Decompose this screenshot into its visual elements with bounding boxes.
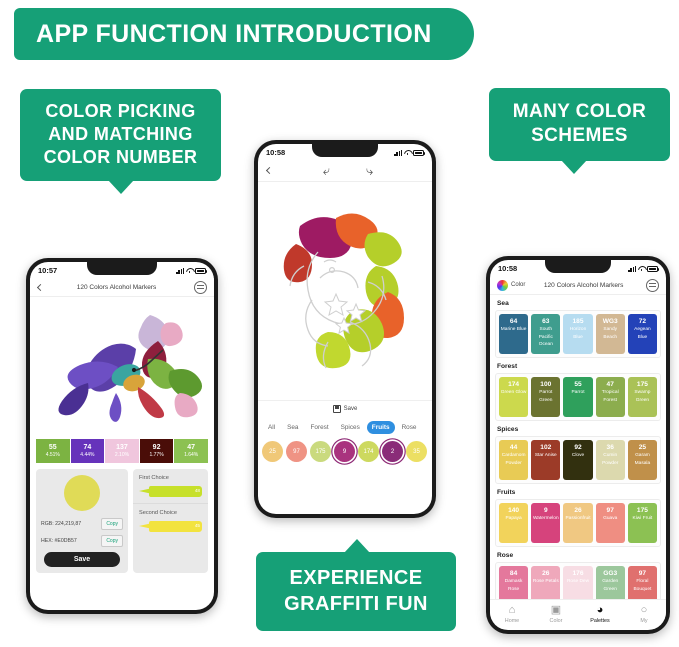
scheme-group: Spices44Cardamom Powder102Star Anise92Cl… [495, 426, 661, 484]
scheme-group: Fruits140Papaya9Watermelon26Passionfruit… [495, 489, 661, 547]
tab-sea[interactable]: Sea [282, 421, 303, 434]
nav-item-palettes[interactable]: ◕Palettes [578, 600, 622, 629]
hummingbird-flower-artwork [30, 297, 214, 439]
chip-number: 185 [573, 317, 584, 326]
phone-mockup-palettes: 10:58 Color 120 Colors Alcohol Markers S… [486, 256, 670, 634]
tab-forest[interactable]: Forest [305, 421, 333, 434]
undo-redo-group: ⤶ ⤷ [272, 164, 424, 177]
color-dots-row: 25971759174235 [258, 438, 432, 468]
app-bar: Color 120 Colors Alcohol Markers [490, 276, 666, 295]
tab-all[interactable]: All [263, 421, 280, 434]
color-wheel-icon [497, 280, 508, 291]
chip-name: Papaya [504, 515, 522, 523]
callout-right-text: MANY COLOR SCHEMES [513, 101, 646, 146]
color-chip[interactable]: 92Clove [563, 440, 592, 480]
page-title: APP FUNCTION INTRODUCTION [14, 8, 474, 60]
color-chip[interactable]: 97Floral Bouquet [628, 566, 657, 599]
color-dot[interactable]: 9 [334, 441, 355, 462]
chip-name: Horizon Blue [563, 326, 592, 341]
home-icon: ⌂ [509, 605, 516, 616]
color-chip[interactable]: WG3Sandy Beach [596, 314, 625, 354]
wifi-icon [404, 150, 411, 156]
nav-item-home[interactable]: ⌂Home [490, 600, 534, 629]
chip-name: Aegean Blue [628, 326, 657, 341]
chip-name: South Pacific Ocean [531, 326, 560, 349]
color-swatch[interactable]: 921.77% [140, 439, 174, 463]
status-icons [176, 268, 206, 274]
chip-number: GG3 [603, 569, 617, 578]
chip-name: Tropical Forest [596, 389, 625, 404]
chip-number: 175 [637, 506, 648, 515]
battery-icon [413, 150, 424, 156]
photo-preview [30, 297, 214, 439]
chip-name: Parrot [570, 389, 585, 397]
color-chip[interactable]: 97Guava [596, 503, 625, 543]
nav-item-my[interactable]: ○My [622, 600, 666, 629]
color-chip[interactable]: 26Rose Petals [531, 566, 560, 599]
nav-item-label: Home [505, 618, 519, 624]
callout-tail-icon [561, 160, 587, 174]
palette-icon: ◕ [597, 605, 604, 616]
nav-item-label: Palettes [590, 618, 609, 624]
chip-number: 63 [542, 317, 549, 326]
chip-number: 97 [639, 569, 646, 578]
marker-choice[interactable]: First Choice48 [133, 469, 208, 503]
scheme-group-title: Spices [497, 426, 661, 433]
status-time: 10:57 [38, 266, 57, 275]
color-dot[interactable]: 174 [358, 441, 379, 462]
scheme-card[interactable]: 44Cardamom Powder102Star Anise92Clove36C… [495, 436, 661, 484]
marker-code: 45 [195, 523, 200, 528]
scheme-card[interactable]: 174Green Glow100Parrot Green55Parrot47Tr… [495, 373, 661, 421]
callout-many-color-schemes: MANY COLOR SCHEMES [489, 88, 670, 161]
color-swatch[interactable]: 744.44% [71, 439, 105, 463]
callout-tail-icon [344, 539, 370, 553]
chip-number: 9 [544, 506, 548, 515]
rgb-row: RGB: 224,219,87 Copy [41, 518, 123, 530]
wifi-icon [638, 266, 645, 272]
redo-arrow-icon[interactable]: ⤷ [366, 164, 373, 177]
picked-color-panel: RGB: 224,219,87 Copy HEX: #E0DB57 Copy S… [36, 469, 128, 573]
scheme-card[interactable]: 64Marine Blue63South Pacific Ocean185Hor… [495, 310, 661, 358]
color-swatch[interactable]: 554.51% [36, 439, 70, 463]
swap-icon[interactable] [194, 281, 207, 294]
scheme-group-title: Fruits [497, 489, 661, 496]
color-swatch[interactable]: 471.64% [174, 439, 208, 463]
signal-icon [176, 268, 184, 274]
chip-number: 84 [510, 569, 517, 578]
color-chip[interactable]: 84Damask Rose [499, 566, 528, 599]
marker-choice[interactable]: Second Choice45 [133, 503, 208, 538]
chip-name: Guava [602, 515, 618, 523]
copy-hex-button[interactable]: Copy [101, 535, 123, 547]
color-dot[interactable]: 97 [286, 441, 307, 462]
chip-number: 64 [510, 317, 517, 326]
chip-name: Passionfruit [564, 515, 591, 523]
scheme-group: Rose84Damask Rose26Rose Petals176Rose De… [495, 552, 661, 599]
tab-fruits[interactable]: Fruits [367, 421, 395, 434]
image-icon: ▣ [551, 605, 561, 616]
tab-spices[interactable]: Spices [336, 421, 365, 434]
graffiti-canvas[interactable] [258, 182, 432, 400]
nav-item-label: My [640, 618, 647, 624]
color-swatch[interactable]: 1372.10% [105, 439, 139, 463]
chip-number: 26 [542, 569, 549, 578]
phone-mockup-graffiti: 10:58 ⤶ ⤷ [254, 140, 436, 518]
picked-color-circle [64, 475, 100, 511]
color-dot[interactable]: 25 [262, 441, 283, 462]
callout-experience-graffiti: EXPERIENCE GRAFFITI FUN [256, 552, 456, 631]
undo-arrow-icon[interactable]: ⤶ [323, 164, 330, 177]
status-bar: 10:57 [30, 262, 214, 278]
marker-graphic: 45 [139, 519, 202, 534]
hex-value: HEX: #E0DB57 [41, 538, 77, 544]
chip-number: 25 [639, 443, 646, 452]
swatch-number: 74 [83, 443, 91, 452]
color-chip[interactable]: 26Passionfruit [563, 503, 592, 543]
swatch-number: 92 [153, 443, 161, 452]
category-tabs: AllSeaForestSpicesFruitsRose [258, 417, 432, 438]
chip-number: 44 [510, 443, 517, 452]
color-dot[interactable]: 175 [310, 441, 331, 462]
rgb-value: RGB: 224,219,87 [41, 521, 81, 527]
swatch-percent: 4.51% [46, 452, 60, 459]
callout-bottom-text: EXPERIENCE GRAFFITI FUN [284, 567, 428, 615]
save-artwork-row[interactable]: Save [258, 400, 432, 417]
chip-number: 47 [607, 380, 614, 389]
swatch-percent: 2.10% [115, 452, 129, 459]
nav-item-color[interactable]: ▣Color [534, 600, 578, 629]
scheme-group: Forest174Green Glow100Parrot Green55Parr… [495, 363, 661, 421]
person-icon: ○ [641, 605, 648, 616]
pony-coloring-artwork [258, 182, 432, 400]
bottom-navigation: ⌂Home▣Color◕Palettes○My [490, 599, 666, 629]
color-dot[interactable]: 35 [406, 441, 427, 462]
chip-name: Damask Rose [499, 578, 528, 593]
save-button[interactable]: Save [44, 552, 120, 567]
marker-code: 48 [195, 488, 200, 493]
scheme-group-title: Forest [497, 363, 661, 370]
status-bar: 10:58 [258, 144, 432, 160]
color-chip[interactable]: 102Star Anise [531, 440, 560, 480]
chip-number: 174 [508, 380, 519, 389]
save-disk-icon [333, 405, 341, 413]
scheme-card[interactable]: 140Papaya9Watermelon26Passionfruit97Guav… [495, 499, 661, 547]
scheme-group: Sea64Marine Blue63South Pacific Ocean185… [495, 300, 661, 358]
chip-name: Rose Petals [532, 578, 560, 586]
callout-tail-icon [108, 180, 134, 194]
nav-item-label: Color [550, 618, 563, 624]
color-chip[interactable]: 36Cumin Powder [596, 440, 625, 480]
chip-number: 72 [639, 317, 646, 326]
color-chip[interactable]: 175Swamp Green [628, 377, 657, 417]
editor-toolbar: ⤶ ⤷ [258, 160, 432, 182]
signal-icon [628, 266, 636, 272]
swatch-percent: 1.77% [149, 452, 163, 459]
hex-row: HEX: #E0DB57 Copy [41, 535, 123, 547]
chip-name: Garam Masala [628, 452, 657, 467]
chip-name: Garden Green [596, 578, 625, 593]
status-icons [394, 150, 424, 156]
chip-name: Sandy Beach [596, 326, 625, 341]
color-chip[interactable]: 140Papaya [499, 503, 528, 543]
wifi-icon [186, 268, 193, 274]
swatch-number: 47 [187, 443, 195, 452]
chip-number: 176 [573, 569, 584, 578]
chip-name: Clove [571, 452, 585, 460]
chip-number: 100 [540, 380, 551, 389]
app-bar-title: 120 Colors Alcohol Markers [528, 282, 643, 289]
color-chip[interactable]: 185Horizon Blue [563, 314, 592, 354]
chip-name: Kiwi Fruit [632, 515, 654, 523]
save-label: Save [344, 406, 358, 412]
swap-icon[interactable] [646, 279, 659, 292]
color-chip[interactable]: 63South Pacific Ocean [531, 314, 560, 354]
color-chip[interactable]: 55Parrot [563, 377, 592, 417]
choice-label: Second Choice [139, 510, 202, 516]
color-chip[interactable]: 176Rose Dew [563, 566, 592, 599]
battery-icon [195, 268, 206, 274]
status-bar: 10:58 [490, 260, 666, 276]
signal-icon [394, 150, 402, 156]
brand-label: Color [511, 282, 525, 288]
chip-number: 97 [607, 506, 614, 515]
scheme-card[interactable]: 84Damask Rose26Rose Petals176Rose DewGG3… [495, 562, 661, 599]
picked-color-section: RGB: 224,219,87 Copy HEX: #E0DB57 Copy S… [30, 463, 214, 579]
app-bar: 120 Colors Alcohol Markers [30, 278, 214, 297]
color-chip[interactable]: 9Watermelon [531, 503, 560, 543]
status-time: 10:58 [498, 264, 517, 273]
swatch-percent: 4.44% [80, 452, 94, 459]
color-chip[interactable]: 72Aegean Blue [628, 314, 657, 354]
chip-number: 140 [508, 506, 519, 515]
chip-name: Marine Blue [500, 326, 528, 334]
swatch-number: 137 [116, 443, 128, 452]
color-chip[interactable]: 25Garam Masala [628, 440, 657, 480]
choices-panel: First Choice48Second Choice45 [133, 469, 208, 573]
chip-name: Swamp Green [628, 389, 657, 404]
color-chip[interactable]: 175Kiwi Fruit [628, 503, 657, 543]
color-chip[interactable]: 47Tropical Forest [596, 377, 625, 417]
color-swatch-row: 554.51%744.44%1372.10%921.77%471.64% [30, 439, 214, 463]
swatch-number: 55 [49, 443, 57, 452]
chip-number: 55 [574, 380, 581, 389]
chip-name: Watermelon [532, 515, 560, 523]
color-dot[interactable]: 2 [382, 441, 403, 462]
scheme-group-title: Rose [497, 552, 661, 559]
chip-number: 36 [607, 443, 614, 452]
status-time: 10:58 [266, 148, 285, 157]
chip-name: Green Glow [500, 389, 528, 397]
swatch-percent: 1.64% [184, 452, 198, 459]
battery-icon [647, 266, 658, 272]
chip-number: 92 [574, 443, 581, 452]
chip-name: Parrot Green [531, 389, 560, 404]
color-chip[interactable]: 100Parrot Green [531, 377, 560, 417]
chip-number: 175 [637, 380, 648, 389]
chip-number: 26 [574, 506, 581, 515]
color-chip[interactable]: 64Marine Blue [499, 314, 528, 354]
chip-name: Star Anise [534, 452, 558, 460]
chip-name: Rose Dew [566, 578, 590, 586]
app-bar-title: 120 Colors Alcohol Markers [43, 284, 194, 291]
chip-name: Cardamom Powder [499, 452, 528, 467]
color-chip[interactable]: GG3Garden Green [596, 566, 625, 599]
copy-rgb-button[interactable]: Copy [101, 518, 123, 530]
choice-label: First Choice [139, 475, 202, 481]
callout-left-text: COLOR PICKING AND MATCHING COLOR NUMBER [44, 101, 198, 167]
color-chip[interactable]: 174Green Glow [499, 377, 528, 417]
chip-number: 102 [540, 443, 551, 452]
chip-name: Floral Bouquet [628, 578, 657, 593]
scheme-group-title: Sea [497, 300, 661, 307]
marker-graphic: 48 [139, 484, 202, 499]
callout-color-picking: COLOR PICKING AND MATCHING COLOR NUMBER [20, 89, 221, 181]
phone-mockup-color-picker: 10:57 120 Colors Alcohol Markers [26, 258, 218, 614]
tab-rose[interactable]: Rose [397, 421, 422, 434]
color-chip[interactable]: 44Cardamom Powder [499, 440, 528, 480]
chip-number: WG3 [603, 317, 618, 326]
scheme-list[interactable]: Sea64Marine Blue63South Pacific Ocean185… [490, 295, 666, 599]
status-icons [628, 266, 658, 272]
chip-name: Cumin Powder [596, 452, 625, 467]
